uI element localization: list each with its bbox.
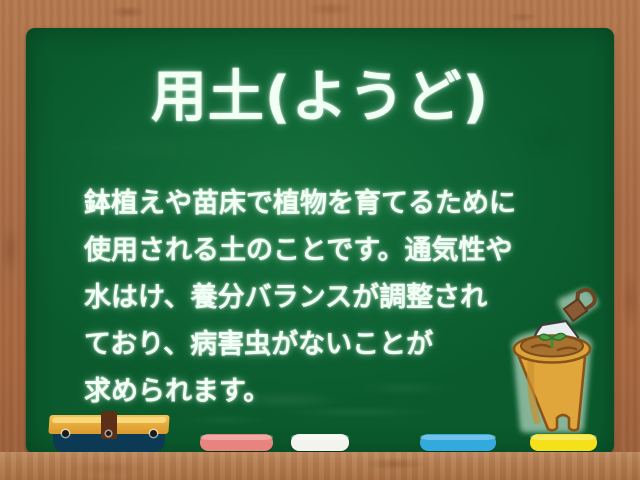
chalk-stick-blue[interactable] — [420, 434, 496, 451]
chalk-stick-yellow[interactable] — [530, 434, 597, 451]
page-title: 用土(ようど) — [26, 69, 614, 128]
eraser-screw-right — [150, 430, 157, 437]
chalk-ledge — [0, 452, 640, 480]
chalkboard-surface: 用土(ようど) 鉢植えや苗床で植物を育てるために 使用される土のことです。通気性… — [26, 28, 614, 454]
eraser-screw-left — [62, 430, 69, 437]
chalkboard-wooden-frame: 用土(ようど) 鉢植えや苗床で植物を育てるために 使用される土のことです。通気性… — [0, 0, 640, 480]
blackboard-eraser[interactable] — [49, 411, 169, 452]
body-line: 鉢植えや苗床で植物を育てるために — [84, 180, 564, 227]
flower-pot-illustration — [486, 283, 614, 453]
eraser-screw-middle — [106, 431, 111, 436]
body-line: 使用される土のことです。通気性や — [84, 227, 564, 274]
chalk-stick-pink[interactable] — [200, 434, 273, 451]
chalk-stick-white[interactable] — [291, 434, 349, 451]
